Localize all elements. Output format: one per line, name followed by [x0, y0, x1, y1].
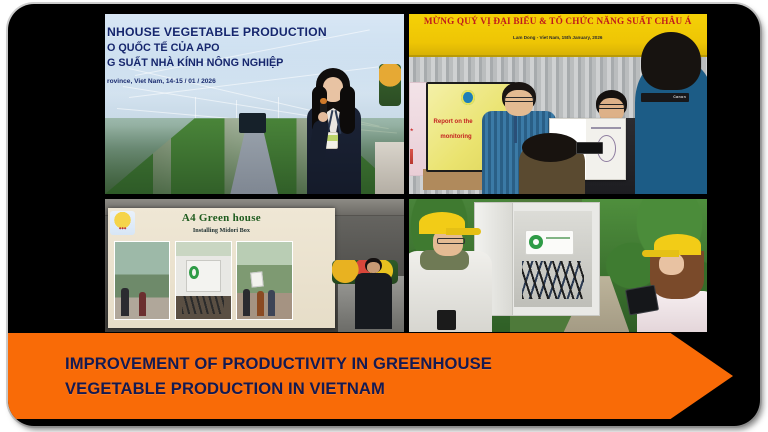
cabinet-interior — [514, 211, 592, 308]
gift-bag-text: ★ — [410, 127, 414, 132]
midori-box-illustration — [186, 260, 221, 292]
midori-box-unit — [525, 230, 573, 255]
title-text: IMPROVEMENT OF PRODUCTIVITY IN GREENHOUS… — [65, 351, 492, 401]
photo-grid: NHOUSE VEGETABLE PRODUCTION O QUỐC TẾ CỦ… — [105, 14, 707, 332]
presentation-slide: NHOUSE VEGETABLE PRODUCTION O QUỐC TẾ CỦ… — [8, 4, 760, 426]
photo-certificate-handover-ceremony[interactable]: MỪNG QUÝ VỊ ĐẠI BIỂU & TỔ CHỨC NĂNG SUẤT… — [409, 14, 708, 194]
midori-logo-icon — [189, 266, 199, 279]
event-banner-headline: MỪNG QUÝ VỊ ĐẠI BIỂU & TỔ CHỨC NĂNG SUẤT… — [409, 16, 708, 26]
presenter-figure — [303, 68, 365, 194]
slide-photo-1 — [114, 241, 171, 320]
camera-operator-head — [641, 32, 701, 90]
midori-box-label — [546, 237, 570, 239]
slide-photo-2 — [175, 241, 232, 320]
monitor-logo-icon — [461, 90, 475, 105]
monitor-text-line2: monitoring — [440, 134, 471, 140]
smartphone-recording — [576, 142, 603, 155]
projected-slide-title: A4 Green house — [108, 212, 335, 224]
presenter-at-podium — [353, 258, 395, 330]
midori-logo-icon — [529, 235, 543, 249]
photo-greenhouse-control-box-inspection[interactable] — [409, 199, 708, 332]
title-line-1: IMPROVEMENT OF PRODUCTIVITY IN GREENHOUS… — [65, 351, 492, 376]
tablet-device — [625, 284, 659, 314]
monitor-text-line1: Report on the — [434, 119, 473, 125]
control-cabinet — [507, 202, 600, 316]
photo-conference-opening-presentation[interactable]: NHOUSE VEGETABLE PRODUCTION O QUỐC TẾ CỦ… — [105, 14, 404, 194]
inspector-right-figure — [635, 234, 707, 332]
slide-subtitle-1: O QUỐC TẾ CỦA APO — [107, 42, 404, 54]
projected-slide-subtitle: Installing Midori Box — [108, 227, 335, 234]
slide-subtitle-2: G SUẤT NHÀ KÍNH NÔNG NGHIỆP — [107, 57, 404, 69]
projection-screen: ◆◆◆ A4 Green house Installing Midori Box — [108, 208, 335, 328]
inspector-left-figure — [409, 210, 493, 332]
greenhouse-vanishing-point — [239, 113, 266, 133]
title-banner: IMPROVEMENT OF PRODUCTIVITY IN GREENHOUS… — [8, 333, 733, 419]
photo-projected-slide-a4-greenhouse[interactable]: ◆◆◆ A4 Green house Installing Midori Box — [105, 199, 404, 332]
decorative-flower — [379, 64, 401, 106]
gift-bag-print — [410, 149, 413, 164]
cabinet-wiring — [522, 261, 584, 300]
stage-podium — [375, 142, 403, 194]
photographer-head — [522, 133, 579, 162]
camera-strap-brand: Canon — [673, 95, 686, 99]
slide-title: NHOUSE VEGETABLE PRODUCTION — [107, 25, 404, 39]
handheld-device — [437, 310, 457, 330]
slide-photo-3 — [236, 241, 293, 320]
title-line-2: VEGETABLE PRODUCTION IN VIETNAM — [65, 376, 492, 401]
